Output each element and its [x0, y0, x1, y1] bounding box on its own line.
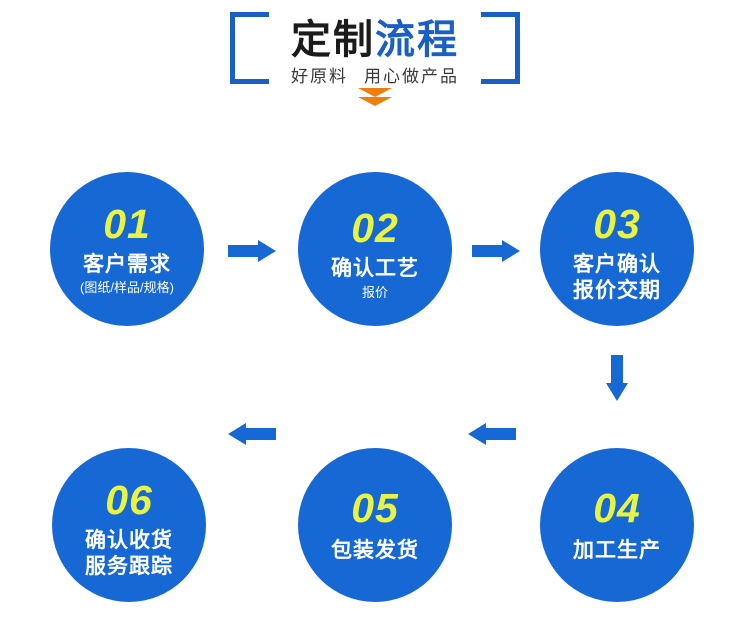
step-number: 06: [52, 480, 206, 521]
arrow-left-icon-step5-to-step6: [228, 423, 276, 445]
subtitle-left: 好原料: [291, 67, 348, 86]
header: 定制流程 好原料用心做产品: [0, 0, 750, 130]
flow-node-step-02: 02 确认工艺 报价: [298, 172, 452, 326]
arrow-right-icon-step1-to-step2: [228, 240, 276, 262]
step-number: 04: [540, 488, 694, 529]
arrow-left-icon-step4-to-step5: [468, 423, 516, 445]
step-label-line2: 服务跟踪: [52, 554, 206, 580]
flow-node-step-01: 01 客户需求 (图纸/样品/规格): [50, 172, 204, 326]
subtitle: 好原料用心做产品: [291, 62, 459, 87]
double-chevron-down-icon: [358, 88, 392, 114]
step-label-line1: 确认收货: [52, 528, 206, 554]
subtitle-right: 用心做产品: [364, 67, 459, 86]
step-label: 客户确认 报价交期: [540, 252, 694, 304]
process-flow-diagram: 01 客户需求 (图纸/样品/规格) 02 确认工艺 报价 03 客户确认 报价…: [0, 130, 750, 632]
step-sublabel: (图纸/样品/规格): [50, 280, 204, 296]
flow-node-step-04: 04 加工生产: [540, 448, 694, 602]
step-number: 01: [50, 204, 204, 245]
step-label: 包装发货: [298, 538, 452, 564]
page-title-part1: 定制: [291, 18, 375, 62]
step-number: 03: [540, 204, 694, 245]
step-number: 05: [298, 488, 452, 529]
step-label: 客户需求: [50, 252, 204, 278]
page-title-part2: 流程: [375, 18, 459, 62]
arrow-down-icon-step3-to-step4: [606, 355, 628, 401]
step-label-line1: 客户确认: [540, 252, 694, 278]
step-number: 02: [298, 208, 452, 249]
flow-node-step-06: 06 确认收货 服务跟踪: [52, 448, 206, 602]
arrow-right-icon-step2-to-step3: [472, 240, 520, 262]
flow-node-step-03: 03 客户确认 报价交期: [540, 172, 694, 326]
step-label: 确认工艺: [298, 256, 452, 282]
step-label: 确认收货 服务跟踪: [52, 528, 206, 580]
page-title: 定制流程: [230, 14, 520, 66]
step-label: 加工生产: [540, 538, 694, 564]
step-sublabel: 报价: [298, 285, 452, 301]
flow-node-step-05: 05 包装发货: [298, 448, 452, 602]
step-label-line2: 报价交期: [540, 278, 694, 304]
